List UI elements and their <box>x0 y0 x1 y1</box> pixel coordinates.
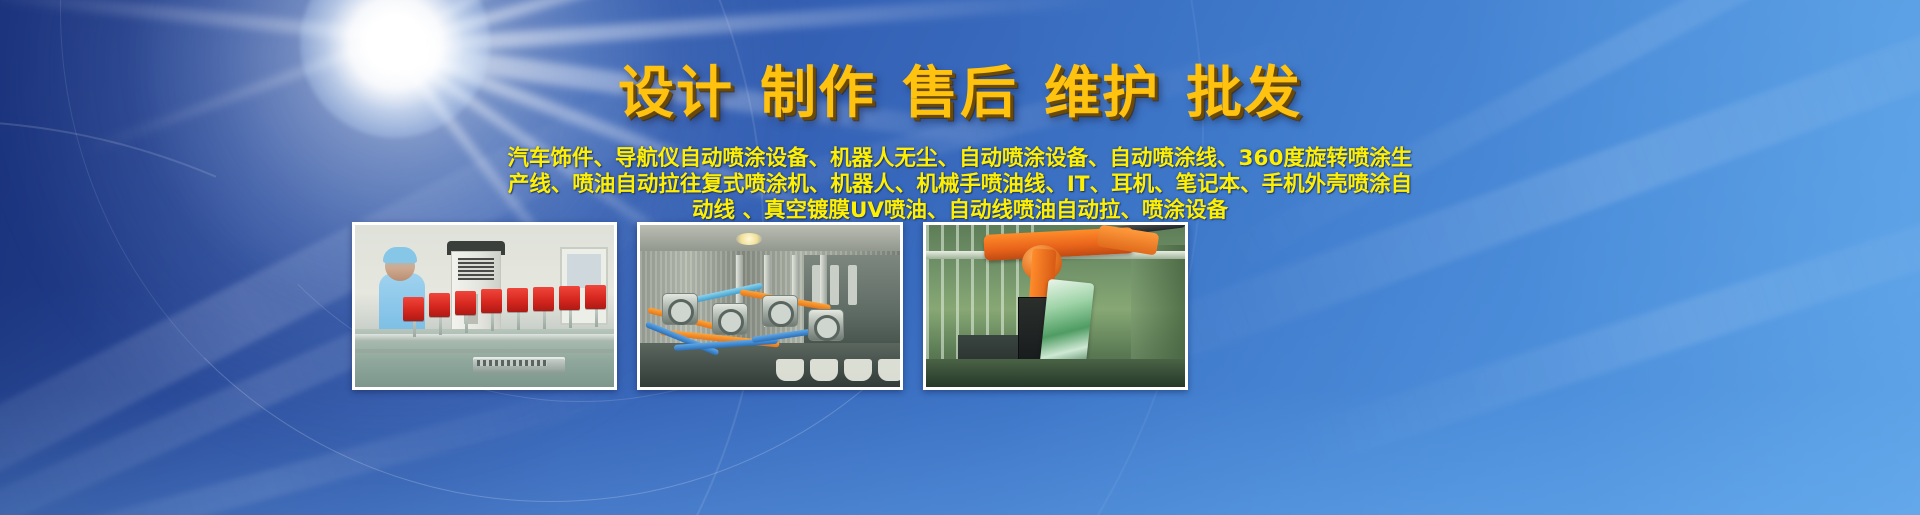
product-photo-strip <box>352 222 1188 392</box>
photo-image <box>926 225 1185 387</box>
banner-subtitle: 汽车饰件、导航仪自动喷涂设备、机器人无尘、自动喷涂设备、自动喷涂线、360度旋转… <box>0 146 1920 224</box>
promo-banner: 设计制作售后维护批发 汽车饰件、导航仪自动喷涂设备、机器人无尘、自动喷涂设备、自… <box>0 0 1920 515</box>
headline-word-manufacture: 制作 <box>760 61 876 126</box>
headline-word-wholesale: 批发 <box>1186 61 1302 126</box>
banner-headline: 设计制作售后维护批发 <box>0 48 1920 129</box>
subtitle-line-3: 动线 、真空镀膜UV喷油、自动线喷油自动拉、喷涂设备 <box>0 198 1920 224</box>
photo-robot-arm-spray-booth[interactable] <box>923 222 1188 390</box>
photo-image <box>640 225 899 387</box>
headline-word-aftersales: 售后 <box>902 61 1018 126</box>
subtitle-line-1: 汽车饰件、导航仪自动喷涂设备、机器人无尘、自动喷涂设备、自动喷涂线、360度旋转… <box>0 146 1920 172</box>
headline-word-design: 设计 <box>618 61 734 126</box>
banner-content: 设计制作售后维护批发 汽车饰件、导航仪自动喷涂设备、机器人无尘、自动喷涂设备、自… <box>0 0 1920 515</box>
subtitle-line-2: 产线、喷油自动拉往复式喷涂机、机器人、机械手喷油线、IT、耳机、笔记本、手机外壳… <box>0 172 1920 198</box>
photo-image <box>355 225 614 387</box>
photo-spray-gun-manifold-booth[interactable] <box>637 222 902 390</box>
photo-cleanroom-conveyor-line[interactable] <box>352 222 617 390</box>
headline-word-maintenance: 维护 <box>1044 61 1160 126</box>
